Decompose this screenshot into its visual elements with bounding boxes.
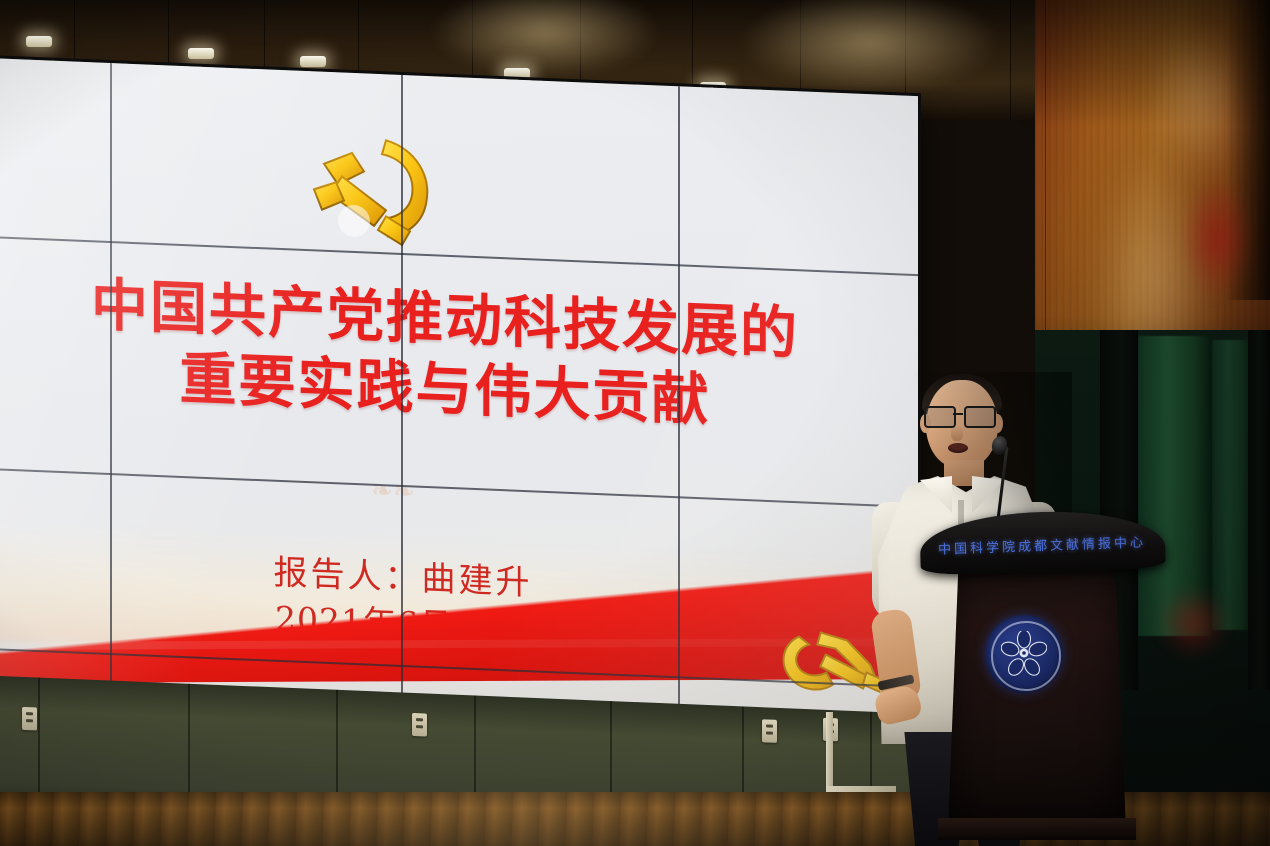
red-banner-glow [1158, 588, 1228, 658]
nose [951, 426, 963, 441]
video-wall: 中国共产党推动科技发展的 重要实践与伟大贡献 ❧❧ 报告人：曲建升 2021年6… [0, 58, 918, 736]
cpc-hammer-sickle-emblem-icon [290, 122, 460, 251]
podium-body [948, 560, 1126, 830]
red-banner-glow [1182, 178, 1252, 298]
video-wall-seam [110, 63, 112, 683]
dark-column [1248, 330, 1270, 690]
ceiling-light-icon [188, 48, 214, 59]
chinese-academy-of-sciences-logo-icon [985, 615, 1063, 693]
ceiling-light-icon [300, 56, 326, 67]
mouth [948, 443, 968, 453]
ceiling-light-icon [26, 36, 52, 47]
slide-title: 中国共产党推动科技发展的 重要实践与伟大贡献 [10, 267, 880, 443]
screenshot-root: 中国共产党推动科技发展的 重要实践与伟大贡献 ❧❧ 报告人：曲建升 2021年6… [0, 0, 1270, 846]
eyeglasses-icon [924, 406, 1002, 426]
podium-base [938, 818, 1136, 840]
power-outlet-icon [412, 713, 427, 737]
power-outlet-icon [22, 707, 37, 731]
presentation-slide: 中国共产党推动科技发展的 重要实践与伟大贡献 ❧❧ 报告人：曲建升 2021年6… [0, 58, 918, 716]
green-wall-panel [1212, 340, 1252, 630]
wall-conduit [826, 712, 833, 792]
video-wall-seam [401, 75, 403, 695]
ornament-flourish-icon: ❧❧ [313, 475, 473, 508]
video-wall-seam [678, 86, 680, 706]
ceiling-light-icon [504, 68, 530, 79]
power-outlet-icon [762, 719, 777, 743]
